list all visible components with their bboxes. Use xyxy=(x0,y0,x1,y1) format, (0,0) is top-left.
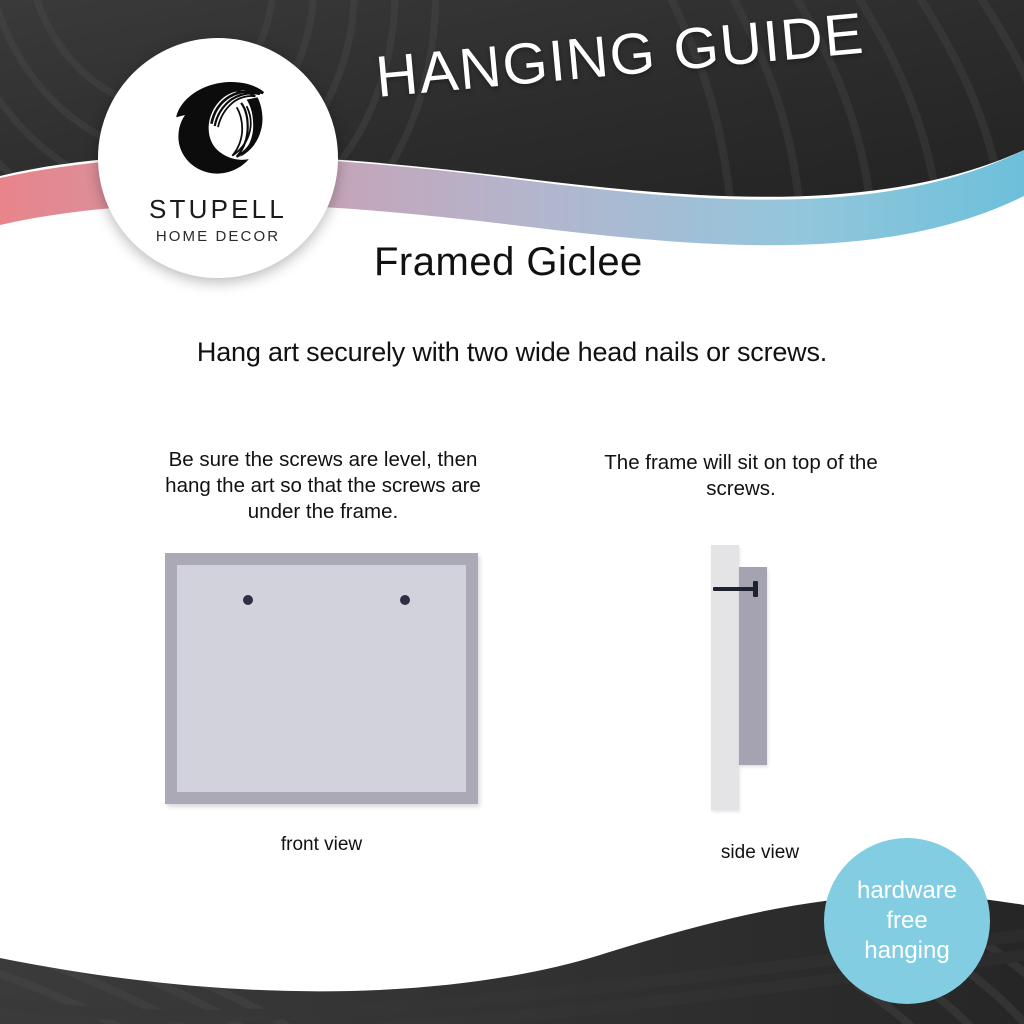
hanging-guide-page: STUPELL HOME DECOR HANGING GUIDE Framed … xyxy=(0,0,1024,1024)
badge-line-1: hardware xyxy=(857,876,957,906)
front-view-art-panel xyxy=(177,565,466,792)
side-view-screw-shaft xyxy=(713,587,757,591)
stupell-swoosh-icon xyxy=(152,60,284,192)
badge-line-2: free xyxy=(886,906,927,936)
front-view-label: front view xyxy=(165,834,478,856)
brand-name: STUPELL xyxy=(149,194,287,225)
brand-logo-badge: STUPELL HOME DECOR xyxy=(98,38,338,278)
side-view-caption: The frame will sit on top of the screws. xyxy=(596,450,886,502)
page-title: HANGING GUIDE xyxy=(373,0,897,111)
badge-line-3: hanging xyxy=(864,936,949,966)
front-view-diagram xyxy=(165,553,478,804)
hardware-free-hanging-badge: hardware free hanging xyxy=(824,838,990,1004)
front-view-caption: Be sure the screws are level, then hang … xyxy=(155,447,491,525)
side-view-diagram xyxy=(705,545,815,815)
screw-dot-right xyxy=(400,595,410,605)
side-view-label: side view xyxy=(660,842,860,864)
brand-tagline: HOME DECOR xyxy=(156,228,280,245)
product-type-label: Framed Giclee xyxy=(374,240,643,285)
side-view-wall xyxy=(711,545,739,810)
screw-dot-left xyxy=(243,595,253,605)
side-view-screw-head xyxy=(753,581,758,597)
main-instruction-text: Hang art securely with two wide head nai… xyxy=(0,337,1024,368)
